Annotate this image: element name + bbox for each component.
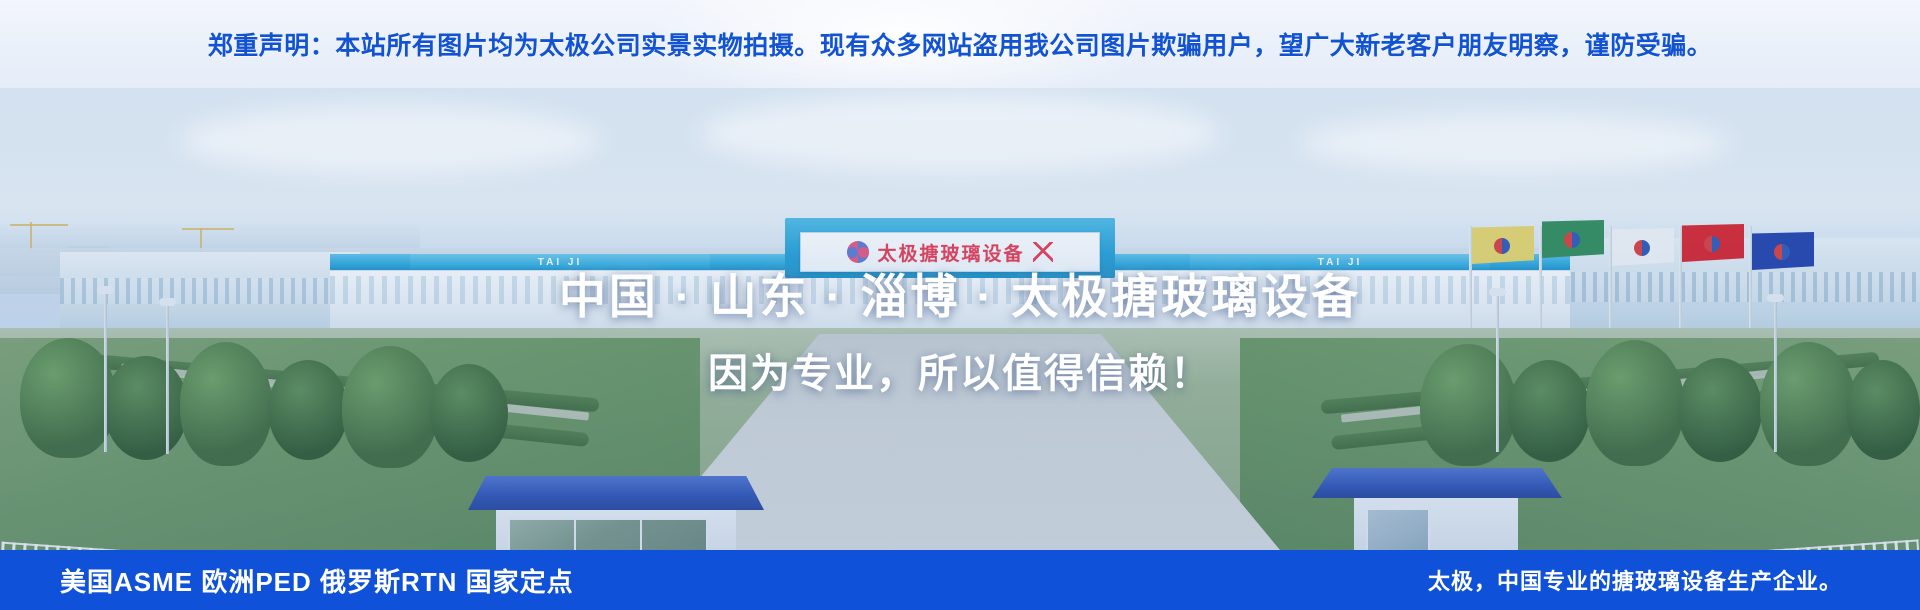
flag-green (1542, 220, 1604, 258)
street-lamp (1774, 300, 1777, 452)
tree (268, 360, 348, 460)
hero-photo: TAI JI TAI JI 太极搪玻璃设备 (0, 88, 1920, 550)
notice-text: 郑重声明：本站所有图片均为太极公司实景实物拍摄。现有众多网站盗用我公司图片欺骗用… (208, 26, 1713, 62)
tree (1586, 340, 1684, 466)
street-lamp (166, 304, 169, 454)
tree (1420, 344, 1516, 466)
facade-band-right: TAI JI (1190, 254, 1490, 270)
flag-red (1682, 224, 1744, 262)
tree (1508, 360, 1590, 462)
gatehouse (486, 476, 746, 550)
taiji-emblem-icon (1494, 238, 1510, 254)
certifications-text: 美国ASME 欧洲PED 俄罗斯RTN 国家定点 (60, 562, 574, 599)
banner-page: 郑重声明：本站所有图片均为太极公司实景实物拍摄。现有众多网站盗用我公司图片欺骗用… (0, 0, 1920, 610)
taiji-emblem-icon (1634, 240, 1650, 256)
facade-band-left: TAI JI (410, 254, 710, 270)
booth-window (1366, 508, 1430, 550)
glass-mullion (640, 518, 642, 550)
factory-window-strip (330, 276, 1570, 304)
notice-banner: 郑重声明：本站所有图片均为太极公司实景实物拍摄。现有众多网站盗用我公司图片欺骗用… (0, 0, 1920, 88)
glass-mullion (574, 518, 576, 550)
taiji-logo (847, 241, 869, 263)
booth-roof (1312, 468, 1562, 498)
tree (180, 342, 272, 466)
bottom-blue-bar: 美国ASME 欧洲PED 俄罗斯RTN 国家定点 太极，中国专业的搪玻璃设备生产… (0, 550, 1920, 610)
tree (1846, 360, 1920, 460)
flag-blue (1752, 232, 1814, 270)
flag-white (1612, 228, 1674, 266)
building-sign-panel: 太极搪玻璃设备 (800, 232, 1100, 272)
street-lamp (104, 292, 107, 452)
building-sign-text: 太极搪玻璃设备 (877, 239, 1024, 266)
crane-jib (182, 228, 234, 230)
tree (342, 346, 438, 468)
cloud (1300, 114, 1730, 174)
crane-jib (10, 224, 68, 226)
flag-yellow (1472, 226, 1534, 264)
cloud (700, 94, 1220, 174)
taiji-emblem-icon (1774, 244, 1790, 260)
tree (104, 356, 188, 460)
cloud (180, 106, 600, 176)
taiji-emblem-icon (1704, 236, 1720, 252)
gatehouse-glass (508, 518, 708, 550)
guard-booth (1336, 468, 1536, 550)
gatehouse-roof (468, 476, 764, 510)
tagline-text: 太极，中国专业的搪玻璃设备生产企业。 (1428, 564, 1842, 596)
tree (430, 364, 508, 462)
street-lamp (1496, 294, 1499, 452)
tree (1678, 358, 1762, 462)
taiji-emblem-icon (1564, 232, 1580, 248)
arrow-mark-icon (1033, 242, 1053, 262)
tree (20, 338, 116, 458)
crane-mast (30, 222, 32, 250)
main-factory-building: TAI JI TAI JI 太极搪玻璃设备 (330, 218, 1570, 330)
